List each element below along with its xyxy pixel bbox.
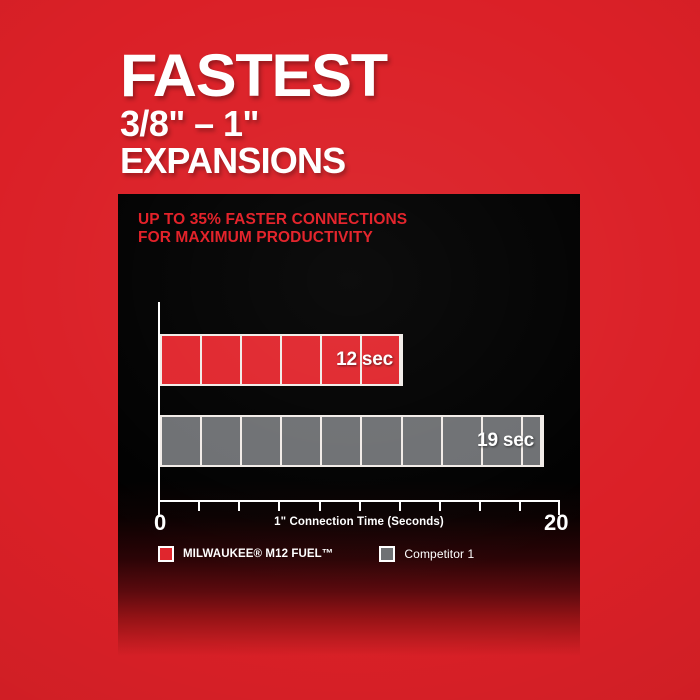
bar-segment — [282, 417, 322, 465]
headline-line-2: 3/8" – 1" — [120, 105, 640, 143]
legend-item-competitor-1: Competitor 1 — [379, 546, 474, 562]
bar-segment — [322, 336, 362, 384]
poster-root: FASTEST 3/8" – 1" EXPANSIONS UP TO 35% F… — [0, 0, 700, 700]
bar-segment — [443, 417, 483, 465]
legend-item-milwaukee: MILWAUKEE® M12 FUEL™ — [158, 546, 333, 562]
bar-segment — [322, 417, 362, 465]
bar-segment — [162, 336, 202, 384]
y-axis-line — [158, 302, 160, 502]
bar-segment — [242, 336, 282, 384]
headline-line-3: EXPANSIONS — [120, 142, 640, 180]
chart-heading-line-1: UP TO 35% FASTER CONNECTIONS — [138, 211, 407, 229]
bar-segment — [523, 417, 542, 465]
chart-legend: MILWAUKEE® M12 FUEL™ Competitor 1 — [158, 546, 474, 562]
legend-label-milwaukee: MILWAUKEE® M12 FUEL™ — [183, 548, 333, 560]
x-tick-6 — [278, 502, 280, 511]
chart-heading: UP TO 35% FASTER CONNECTIONS FOR MAXIMUM… — [138, 211, 407, 246]
x-tick-12 — [399, 502, 401, 511]
headline-block: FASTEST 3/8" – 1" EXPANSIONS — [120, 48, 640, 181]
x-tick-14 — [439, 502, 441, 511]
bar-segment — [362, 417, 403, 465]
bar-segment — [202, 336, 242, 384]
x-tick-8 — [319, 502, 321, 511]
x-axis-caption: 1" Connection Time (Seconds) — [158, 516, 560, 528]
bar-segment — [282, 336, 322, 384]
bar-segment — [483, 417, 523, 465]
legend-swatch-icon-competitor — [379, 546, 395, 562]
bar-segment — [403, 417, 443, 465]
legend-label-competitor-1: Competitor 1 — [404, 547, 474, 561]
legend-swatch-icon-milwaukee — [158, 546, 174, 562]
bar-competitor-1: 19 sec — [160, 415, 544, 467]
x-tick-4 — [238, 502, 240, 511]
plot-area: 12 sec 19 sec 0 20 1" Connection Time (S… — [158, 302, 560, 502]
x-tick-16 — [479, 502, 481, 511]
chart-heading-line-2: FOR MAXIMUM PRODUCTIVITY — [138, 229, 407, 247]
chart-panel: UP TO 35% FASTER CONNECTIONS FOR MAXIMUM… — [118, 194, 580, 656]
bar-segment — [162, 417, 202, 465]
bar-segment — [242, 417, 282, 465]
bar-milwaukee-m12-fuel: 12 sec — [160, 334, 403, 386]
headline-line-1: FASTEST — [120, 48, 650, 103]
x-tick-2 — [198, 502, 200, 511]
bar-segment — [202, 417, 242, 465]
bar-segment — [362, 336, 401, 384]
x-tick-10 — [359, 502, 361, 511]
x-tick-18 — [519, 502, 521, 511]
